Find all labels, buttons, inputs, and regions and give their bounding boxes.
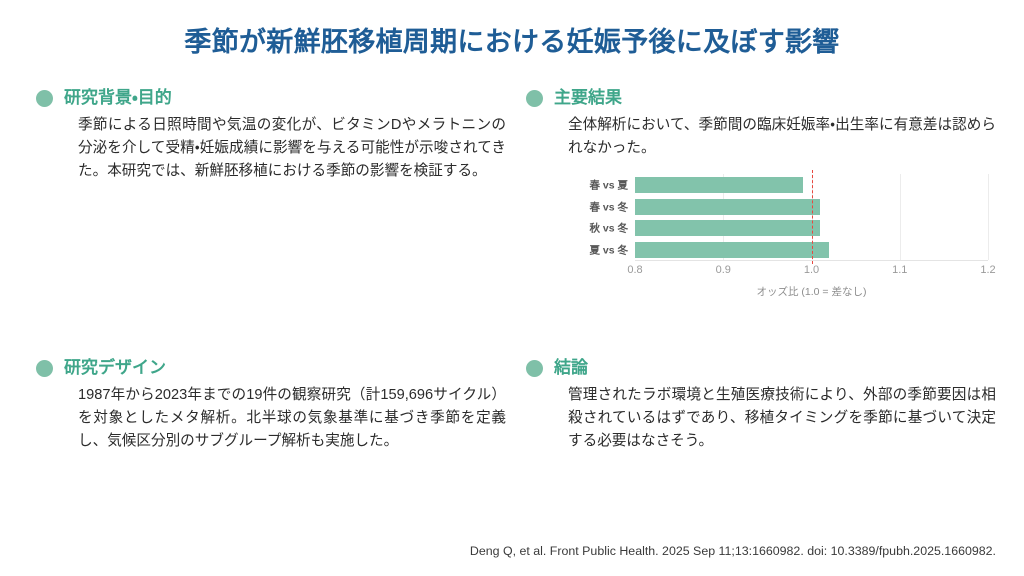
chart-x-tick-label: 1.1 [892, 264, 907, 276]
odds-ratio-bar-chart: 春 vs 夏春 vs 冬秋 vs 冬夏 vs 冬 オッズ比 (1.0 = 差なし… [556, 174, 996, 304]
section-background-title: 研究背景・目的 [64, 88, 172, 108]
chart-bar [635, 177, 803, 193]
section-design: 研究デザイン 1987年から2023年までの19件の観察研究（計159,696サ… [36, 358, 506, 454]
bullet-dot-icon [36, 360, 53, 377]
chart-category-label: 秋 vs 冬 [589, 221, 628, 236]
citation-footer: Deng Q, et al. Front Public Health. 2025… [0, 544, 996, 558]
chart-bar-row: 秋 vs 冬 [635, 220, 820, 236]
slide-root: 季節が新鮮胚移植周期における妊娠予後に及ぼす影響 研究背景・目的 季節による日照… [0, 0, 1024, 576]
section-conclusion: 結論 管理されたラボ環境と生殖医療技術により、外部の季節要因は相殺されているはず… [526, 358, 996, 454]
section-design-header: 研究デザイン [36, 358, 506, 378]
chart-category-label: 春 vs 夏 [589, 178, 628, 193]
chart-x-axis-title: オッズ比 (1.0 = 差なし) [635, 284, 988, 299]
chart-bar-row: 春 vs 冬 [635, 199, 820, 215]
section-design-title: 研究デザイン [64, 358, 166, 378]
chart-bar [635, 242, 829, 258]
chart-bar [635, 220, 820, 236]
chart-gridline [988, 174, 989, 260]
chart-gridline [900, 174, 901, 260]
section-background: 研究背景・目的 季節による日照時間や気温の変化が、ビタミンDやメラトニンの分泌を… [36, 88, 506, 184]
chart-plot-area: 春 vs 夏春 vs 冬秋 vs 冬夏 vs 冬 [635, 174, 988, 260]
section-results-body: 全体解析において、季節間の臨床妊娠率・出生率に有意差は認められなかった。 [568, 114, 996, 160]
section-conclusion-body: 管理されたラボ環境と生殖医療技術により、外部の季節要因は相殺されているはずであり… [568, 384, 996, 453]
chart-x-tick-label: 0.8 [627, 264, 642, 276]
chart-category-label: 春 vs 冬 [589, 199, 628, 214]
page-title: 季節が新鮮胚移植周期における妊娠予後に及ぼす影響 [0, 26, 1024, 58]
chart-bar-row: 夏 vs 冬 [635, 242, 829, 258]
chart-x-tick-label: 1.2 [980, 264, 995, 276]
section-results-header: 主要結果 [526, 88, 996, 108]
section-design-body: 1987年から2023年までの19件の観察研究（計159,696サイクル）を対象… [78, 384, 506, 453]
section-background-body: 季節による日照時間や気温の変化が、ビタミンDやメラトニンの分泌を介して受精・妊娠… [78, 114, 506, 183]
bullet-dot-icon [526, 360, 543, 377]
chart-bar-row: 春 vs 夏 [635, 177, 803, 193]
chart-x-tick-label: 1.0 [804, 264, 819, 276]
bullet-dot-icon [526, 90, 543, 107]
section-conclusion-title: 結論 [554, 358, 588, 378]
chart-reference-line [812, 170, 813, 264]
chart-x-tick-label: 0.9 [716, 264, 731, 276]
section-conclusion-header: 結論 [526, 358, 996, 378]
chart-category-label: 夏 vs 冬 [589, 242, 628, 257]
section-results: 主要結果 全体解析において、季節間の臨床妊娠率・出生率に有意差は認められなかった… [526, 88, 996, 304]
chart-bar [635, 199, 820, 215]
section-results-title: 主要結果 [554, 88, 622, 108]
bullet-dot-icon [36, 90, 53, 107]
section-background-header: 研究背景・目的 [36, 88, 506, 108]
